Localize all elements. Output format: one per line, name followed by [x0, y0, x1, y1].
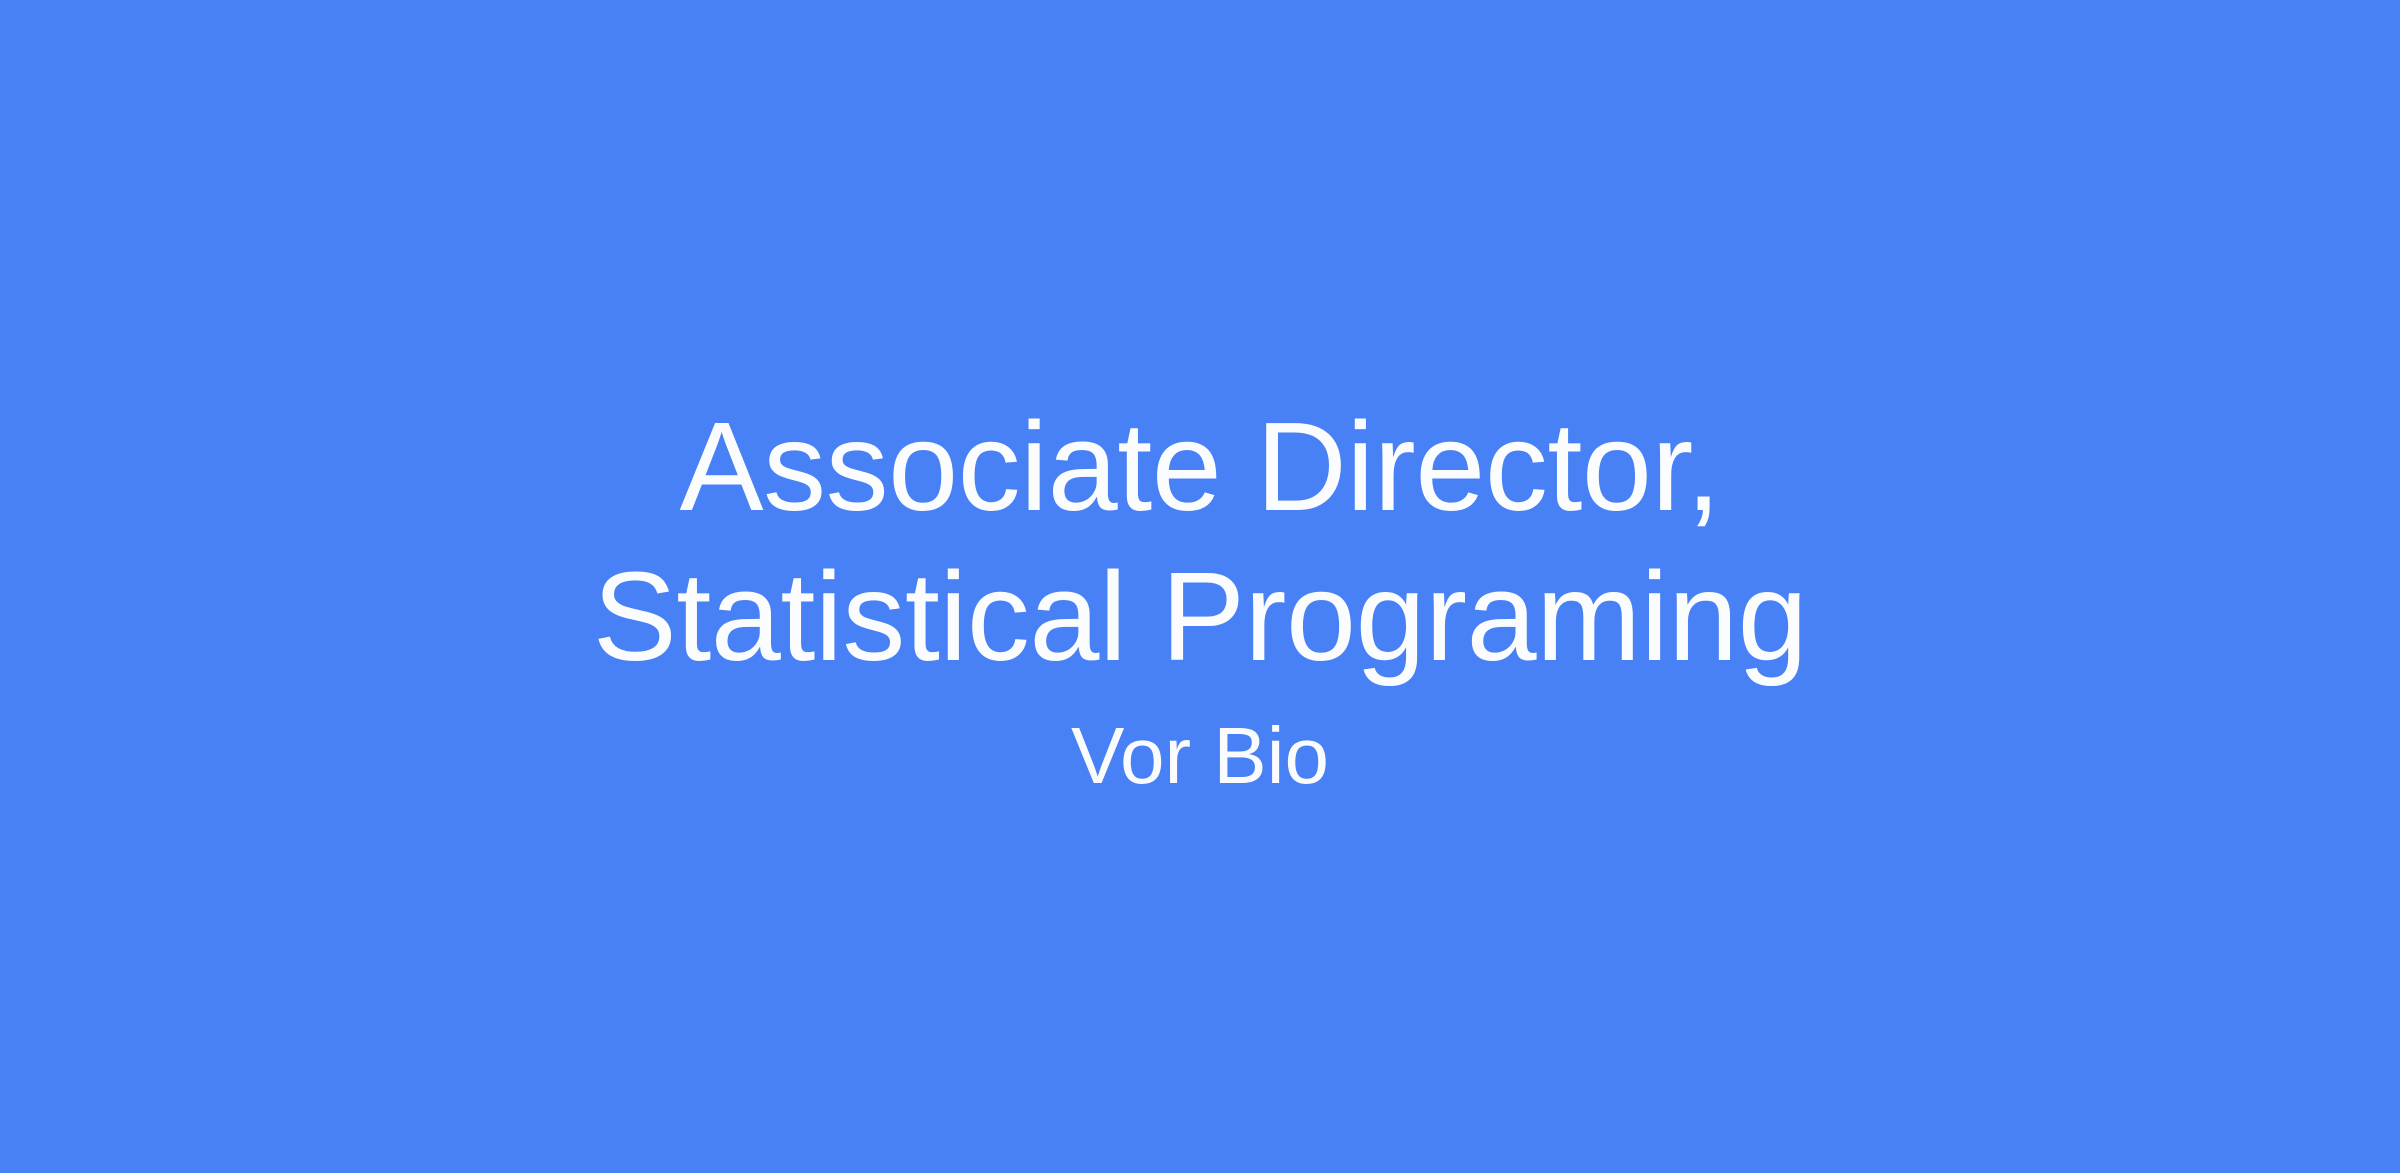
- job-posting-hero: Associate Director, Statistical Programi…: [0, 0, 2400, 1173]
- company-name: Vor Bio: [1071, 710, 1329, 802]
- hero-text-block: Associate Director, Statistical Programi…: [420, 392, 1980, 802]
- page-title: Associate Director, Statistical Programi…: [450, 392, 1950, 692]
